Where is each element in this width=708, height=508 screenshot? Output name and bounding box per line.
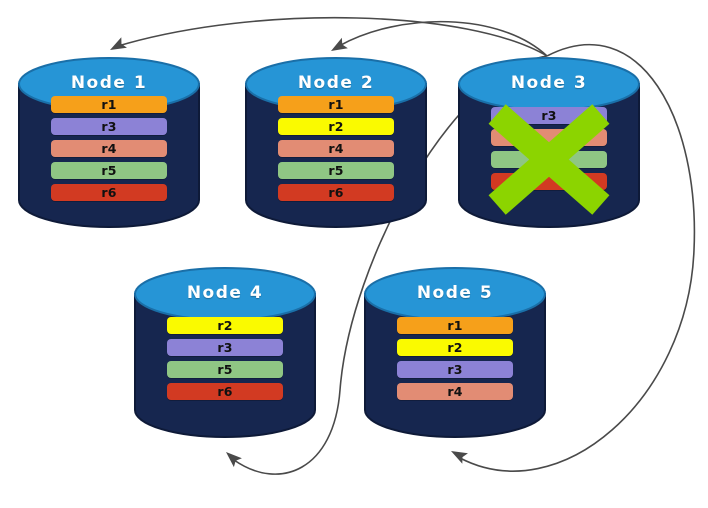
replica-row[interactable] [491,151,607,168]
replica-row[interactable]: r3 [491,107,607,124]
replica-list: r1r2r4r5r6 [245,96,427,206]
arrow-node3-to-node2-head [328,38,348,56]
replica-row[interactable]: r1 [51,96,167,113]
replica-row[interactable]: r5 [51,162,167,179]
diagram-canvas: Node 1r1r3r4r5r6Node 2r1r2r4r5r6Node 3r3… [0,0,708,508]
replica-row[interactable]: r4 [278,140,394,157]
replica-row[interactable]: r3 [397,361,513,378]
db-node-3[interactable]: Node 3r3 [458,57,640,227]
replica-row[interactable]: r6 [278,184,394,201]
db-node-5[interactable]: Node 5r1r2r3r4 [364,267,546,437]
arrow-node3-to-node1-head [107,37,127,55]
replica-list: r1r2r3r4 [364,317,546,405]
replica-row[interactable]: r5 [278,162,394,179]
replica-row[interactable]: r6 [167,383,283,400]
replica-row[interactable]: r4 [51,140,167,157]
db-node-4[interactable]: Node 4r2r3r5r6 [134,267,316,437]
replica-row[interactable]: r4 [397,383,513,400]
replica-row[interactable]: r2 [167,317,283,334]
replica-row[interactable]: r6 [51,184,167,201]
replica-list: r3 [458,107,640,195]
replica-row[interactable]: r3 [167,339,283,356]
replica-row[interactable]: r1 [397,317,513,334]
replica-row[interactable] [491,173,607,190]
replica-row[interactable]: r2 [397,339,513,356]
arrow-node3-to-node4-head [222,448,242,468]
replica-row[interactable]: r1 [278,96,394,113]
replica-row[interactable]: r5 [167,361,283,378]
db-node-2[interactable]: Node 2r1r2r4r5r6 [245,57,427,227]
replica-list: r1r3r4r5r6 [18,96,200,206]
db-node-1[interactable]: Node 1r1r3r4r5r6 [18,57,200,227]
replica-list: r2r3r5r6 [134,317,316,405]
replica-row[interactable]: r2 [278,118,394,135]
replica-row[interactable]: r3 [51,118,167,135]
replica-row[interactable] [491,129,607,146]
arrow-node3-to-node2 [339,22,547,56]
